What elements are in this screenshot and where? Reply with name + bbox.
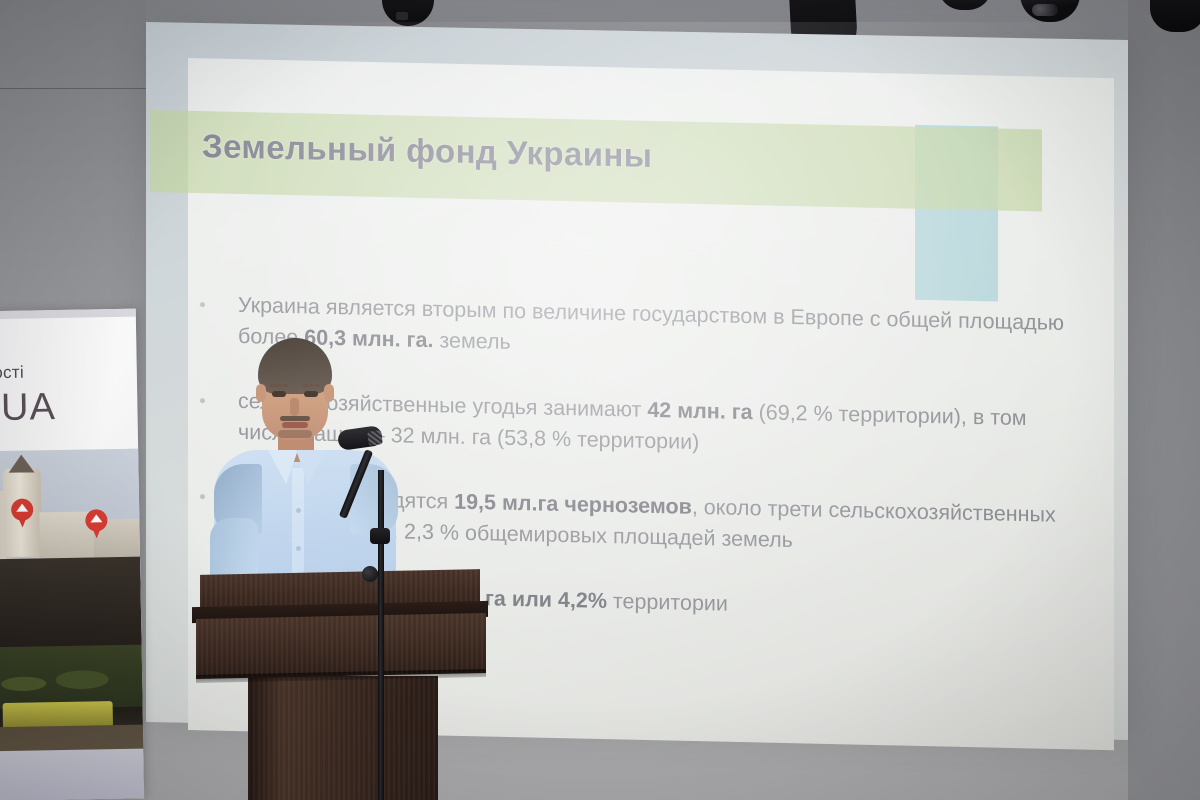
banner-top-bar <box>0 309 136 320</box>
right-wall-panel <box>1128 0 1200 800</box>
rollup-banner: ерухомості TO.UA <box>0 309 144 800</box>
speaker-eyebrow-left <box>270 384 288 387</box>
map-pin-icon <box>85 509 108 539</box>
speaker-moustache <box>280 416 310 421</box>
podium-base <box>248 676 438 800</box>
banner-trees <box>0 645 143 710</box>
shirt-button <box>296 546 301 551</box>
speaker-eye-right <box>304 391 318 397</box>
banner-subtitle: ерухомості <box>0 361 135 384</box>
speaker-ear-left <box>256 384 266 402</box>
bullet-dot-icon <box>200 494 205 499</box>
banner-cityscape-photo <box>0 449 144 800</box>
speaker-eye-left <box>272 391 286 397</box>
speaker-ear-right <box>324 384 334 402</box>
map-pin-icon <box>11 498 34 528</box>
speaker-mouth <box>282 422 308 428</box>
bullet-dot-icon <box>200 398 205 403</box>
microphone-adjust-knob <box>362 566 378 582</box>
microphone-grille <box>367 430 383 446</box>
bullet-dot-icon <box>200 302 205 307</box>
speaker-nose <box>290 398 299 416</box>
speaker-eyebrow-right <box>302 384 320 387</box>
speaker-chin-shadow <box>278 430 312 438</box>
shirt-button <box>296 508 301 513</box>
microphone-clamp <box>370 528 390 544</box>
photo-scene: Земельный фонд Украины Украина является … <box>0 0 1200 800</box>
banner-logo-text: TO.UA <box>0 384 144 431</box>
ceiling-seam-line <box>0 88 152 89</box>
microphone-stand <box>378 470 384 800</box>
banner-bottom-band <box>0 749 144 800</box>
banner-apartment-block <box>0 557 142 656</box>
